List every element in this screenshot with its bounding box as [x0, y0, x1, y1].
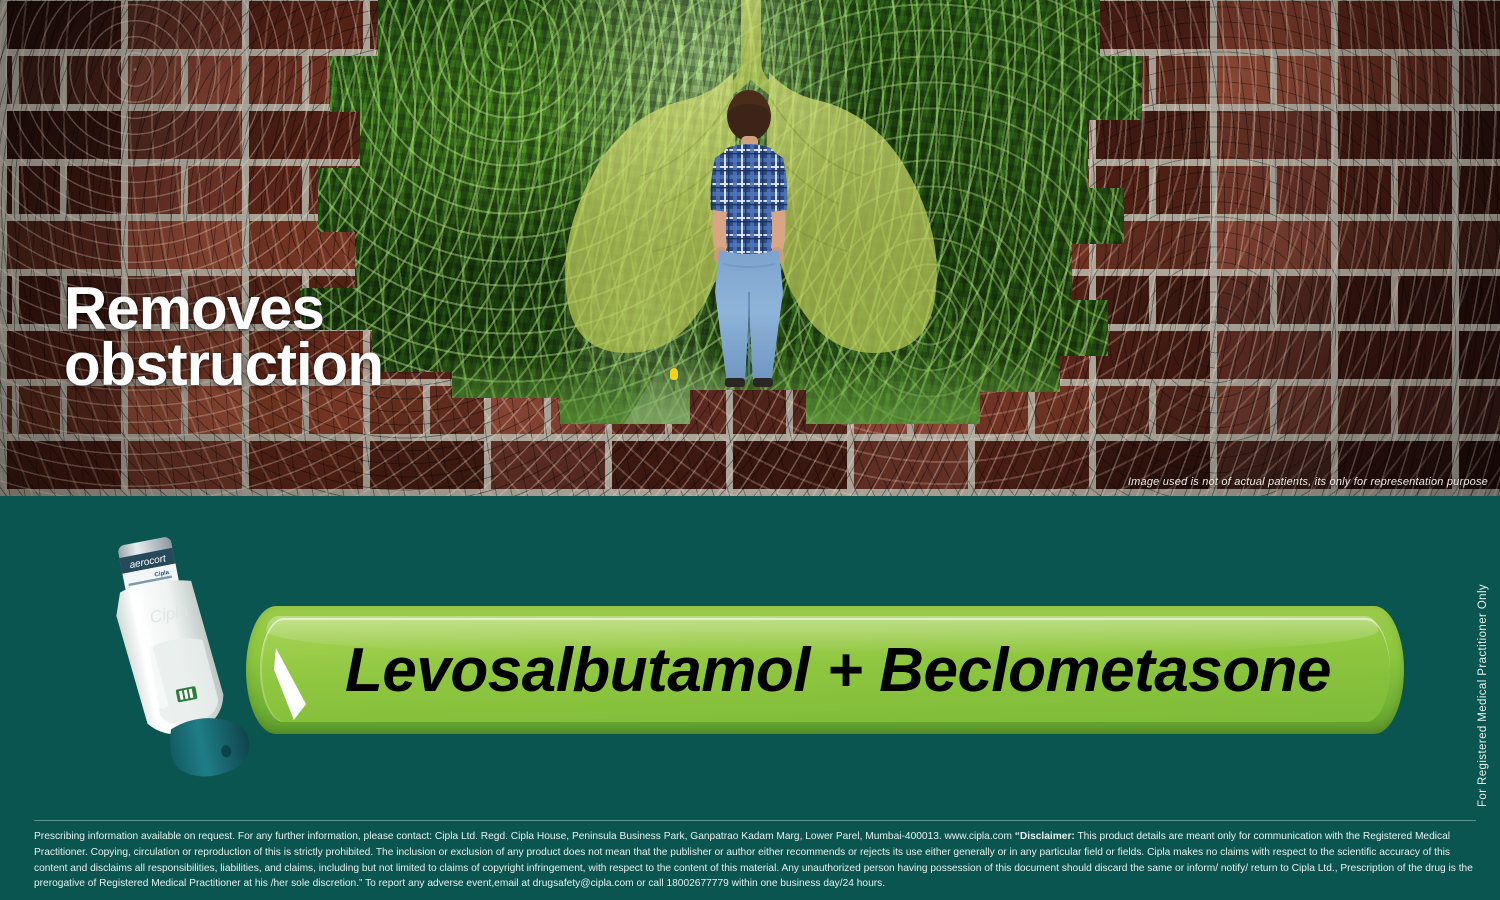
product-name-banner: Levosalbutamol + Beclometasone [246, 606, 1404, 734]
person-figure [697, 88, 801, 388]
headline-line-2: obstruction [64, 337, 494, 393]
image-caption: Image used is not of actual patients, it… [1128, 476, 1488, 488]
product-name-text: Levosalbutamol + Beclometasone [246, 606, 1404, 734]
advertisement-page: Removes obstruction Image used is not of… [0, 0, 1500, 900]
disclaimer-text: Prescribing information available on req… [34, 829, 1482, 892]
disclaimer-divider [34, 820, 1476, 821]
disclaimer-label: “Disclaimer: [1015, 831, 1075, 842]
prescribing-info-line: Prescribing information available on req… [34, 831, 1012, 842]
flower-icon [670, 368, 679, 390]
hero-image: Removes obstruction Image used is not of… [0, 0, 1500, 496]
disclaimer-section: Prescribing information available on req… [0, 820, 1500, 900]
page-title: Removes obstruction [64, 281, 494, 394]
product-band: aerocort Cipla Cipla [0, 496, 1500, 820]
registered-practitioner-note: For Registered Medical Practitioner Only [1470, 560, 1496, 830]
